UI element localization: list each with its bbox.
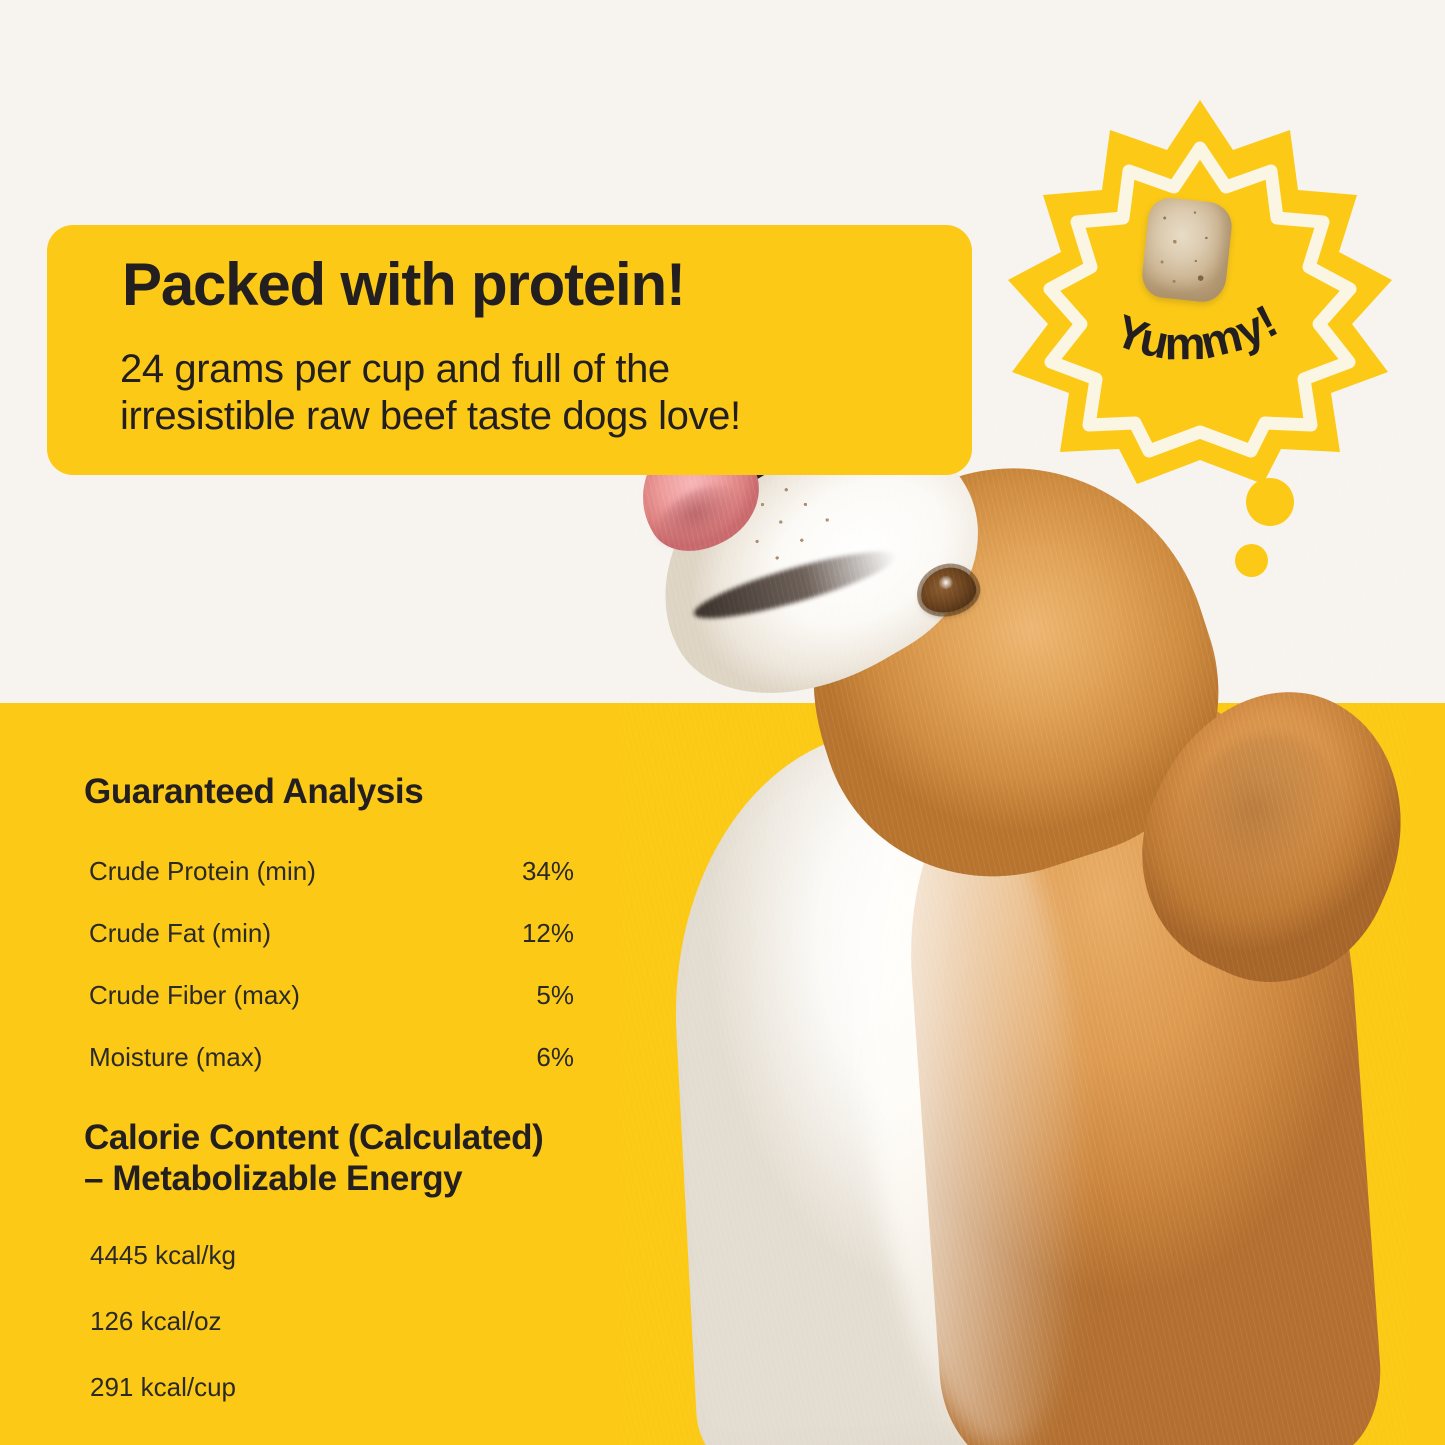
product-infographic: Packed with protein! 24 grams per cup an…	[0, 0, 1445, 1445]
calorie-content-list: 4445 kcal/kg 126 kcal/oz 291 kcal/cup	[90, 1222, 510, 1420]
badge-label-wrap: Yummy!	[1000, 92, 1400, 492]
headline-subtitle-line-1: 24 grams per cup and full of the	[120, 346, 950, 393]
nutrient-value: 6%	[536, 1026, 574, 1088]
thought-bubble-dot-large	[1246, 478, 1294, 526]
dog-photo	[620, 400, 1410, 1445]
headline-subtitle: 24 grams per cup and full of the irresis…	[120, 346, 950, 440]
headline-subtitle-line-2: irresistible raw beef taste dogs love!	[120, 393, 950, 440]
nutrient-value: 5%	[536, 964, 574, 1026]
page-title: Packed with protein!	[122, 253, 922, 316]
table-row: Moisture (max) 6%	[84, 1026, 574, 1088]
nutrient-label: Crude Protein (min)	[89, 840, 316, 902]
badge-label: Yummy!	[1108, 295, 1285, 370]
calorie-content-heading: Calorie Content (Calculated) – Metaboliz…	[84, 1118, 724, 1199]
guaranteed-analysis-table: Crude Protein (min) 34% Crude Fat (min) …	[84, 840, 574, 1088]
calorie-heading-line-2: – Metabolizable Energy	[84, 1159, 724, 1200]
nutrient-value: 12%	[522, 902, 574, 964]
yummy-badge: Yummy!	[1000, 92, 1400, 492]
table-row: Crude Fat (min) 12%	[84, 902, 574, 964]
nutrient-label: Crude Fat (min)	[89, 902, 271, 964]
nutrient-label: Crude Fiber (max)	[89, 964, 300, 1026]
table-row: Crude Protein (min) 34%	[84, 840, 574, 902]
nutrient-label: Moisture (max)	[89, 1026, 262, 1088]
list-item: 4445 kcal/kg	[90, 1222, 510, 1288]
thought-bubble-dot-small	[1235, 544, 1268, 577]
list-item: 291 kcal/cup	[90, 1354, 510, 1420]
dog-eye-glint	[938, 576, 954, 589]
table-row: Crude Fiber (max) 5%	[84, 964, 574, 1026]
list-item: 126 kcal/oz	[90, 1288, 510, 1354]
nutrient-value: 34%	[522, 840, 574, 902]
calorie-heading-line-1: Calorie Content (Calculated)	[84, 1118, 724, 1159]
guaranteed-analysis-heading: Guaranteed Analysis	[84, 772, 644, 813]
